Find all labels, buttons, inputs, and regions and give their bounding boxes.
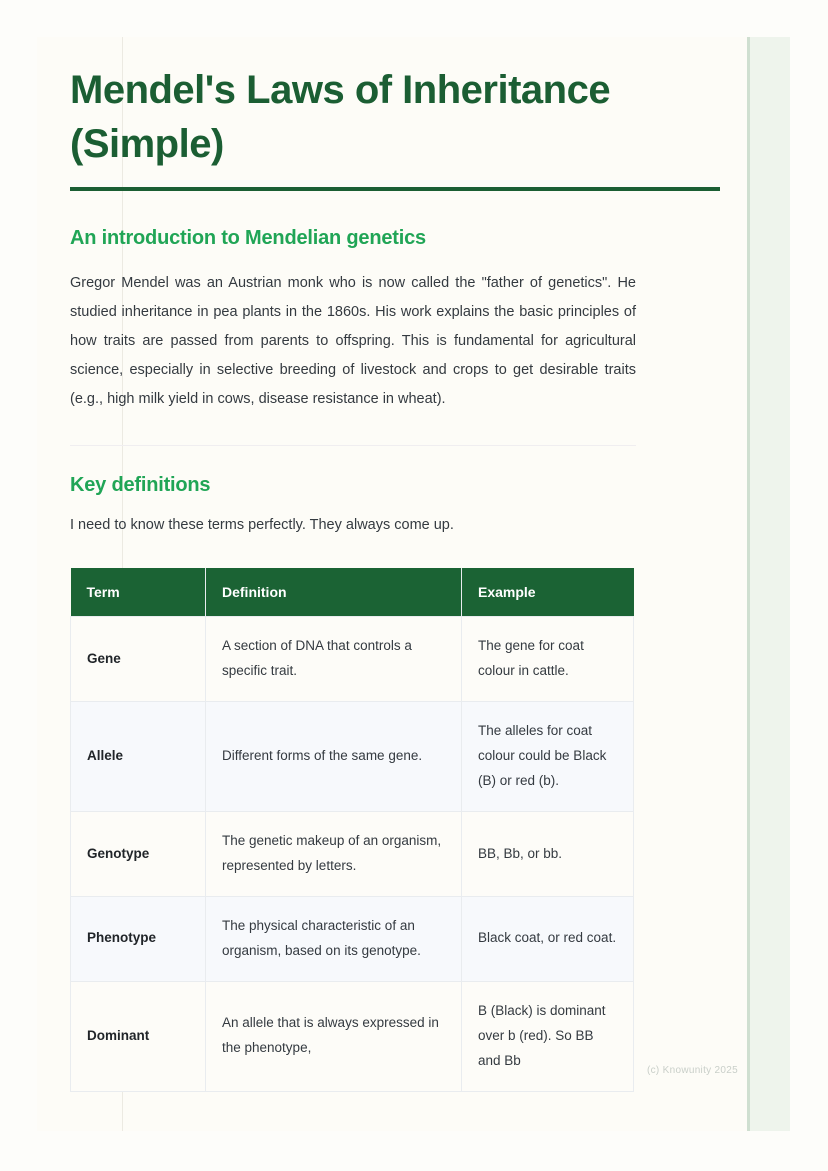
table-row: Phenotype The physical characteristic of… xyxy=(71,896,634,981)
cell-definition: A section of DNA that controls a specifi… xyxy=(206,617,462,702)
cell-example: The alleles for coat colour could be Bla… xyxy=(462,702,634,812)
column-header-definition: Definition xyxy=(206,568,462,617)
definitions-table-head: Term Definition Example xyxy=(71,568,634,617)
cell-term: Phenotype xyxy=(71,896,206,981)
document-content: Mendel's Laws of Inheritance (Simple) An… xyxy=(70,37,760,1131)
cell-term: Dominant xyxy=(71,981,206,1091)
definitions-table: Term Definition Example Gene A section o… xyxy=(70,568,634,1092)
table-row: Allele Different forms of the same gene.… xyxy=(71,702,634,812)
cell-term: Allele xyxy=(71,702,206,812)
definitions-table-body: Gene A section of DNA that controls a sp… xyxy=(71,617,634,1092)
cell-example: B (Black) is dominant over b (red). So B… xyxy=(462,981,634,1091)
cell-example: The gene for coat colour in cattle. xyxy=(462,617,634,702)
cell-definition: The genetic makeup of an organism, repre… xyxy=(206,812,462,897)
cell-term: Gene xyxy=(71,617,206,702)
key-definitions-section: Key definitions I need to know these ter… xyxy=(70,446,760,1092)
cell-definition: An allele that is always expressed in th… xyxy=(206,981,462,1091)
column-header-term: Term xyxy=(71,568,206,617)
table-row: Genotype The genetic makeup of an organi… xyxy=(71,812,634,897)
cell-term: Genotype xyxy=(71,812,206,897)
page-root: Mendel's Laws of Inheritance (Simple) An… xyxy=(0,0,828,1171)
table-row: Dominant An allele that is always expres… xyxy=(71,981,634,1091)
section-heading-introduction: An introduction to Mendelian genetics xyxy=(70,191,760,250)
table-row: Gene A section of DNA that controls a sp… xyxy=(71,617,634,702)
document-page: Mendel's Laws of Inheritance (Simple) An… xyxy=(37,37,790,1131)
intro-paragraph: Gregor Mendel was an Austrian monk who i… xyxy=(70,250,636,414)
cell-definition: The physical characteristic of an organi… xyxy=(206,896,462,981)
cell-example: BB, Bb, or bb. xyxy=(462,812,634,897)
cell-definition: Different forms of the same gene. xyxy=(206,702,462,812)
table-header-row: Term Definition Example xyxy=(71,568,634,617)
copyright-watermark: (c) Knowunity 2025 xyxy=(647,1065,738,1076)
section-heading-key-definitions: Key definitions xyxy=(70,474,760,497)
column-header-example: Example xyxy=(462,568,634,617)
cell-example: Black coat, or red coat. xyxy=(462,896,634,981)
page-title: Mendel's Laws of Inheritance (Simple) xyxy=(70,37,760,171)
key-definitions-intro-line: I need to know these terms perfectly. Th… xyxy=(70,497,636,540)
